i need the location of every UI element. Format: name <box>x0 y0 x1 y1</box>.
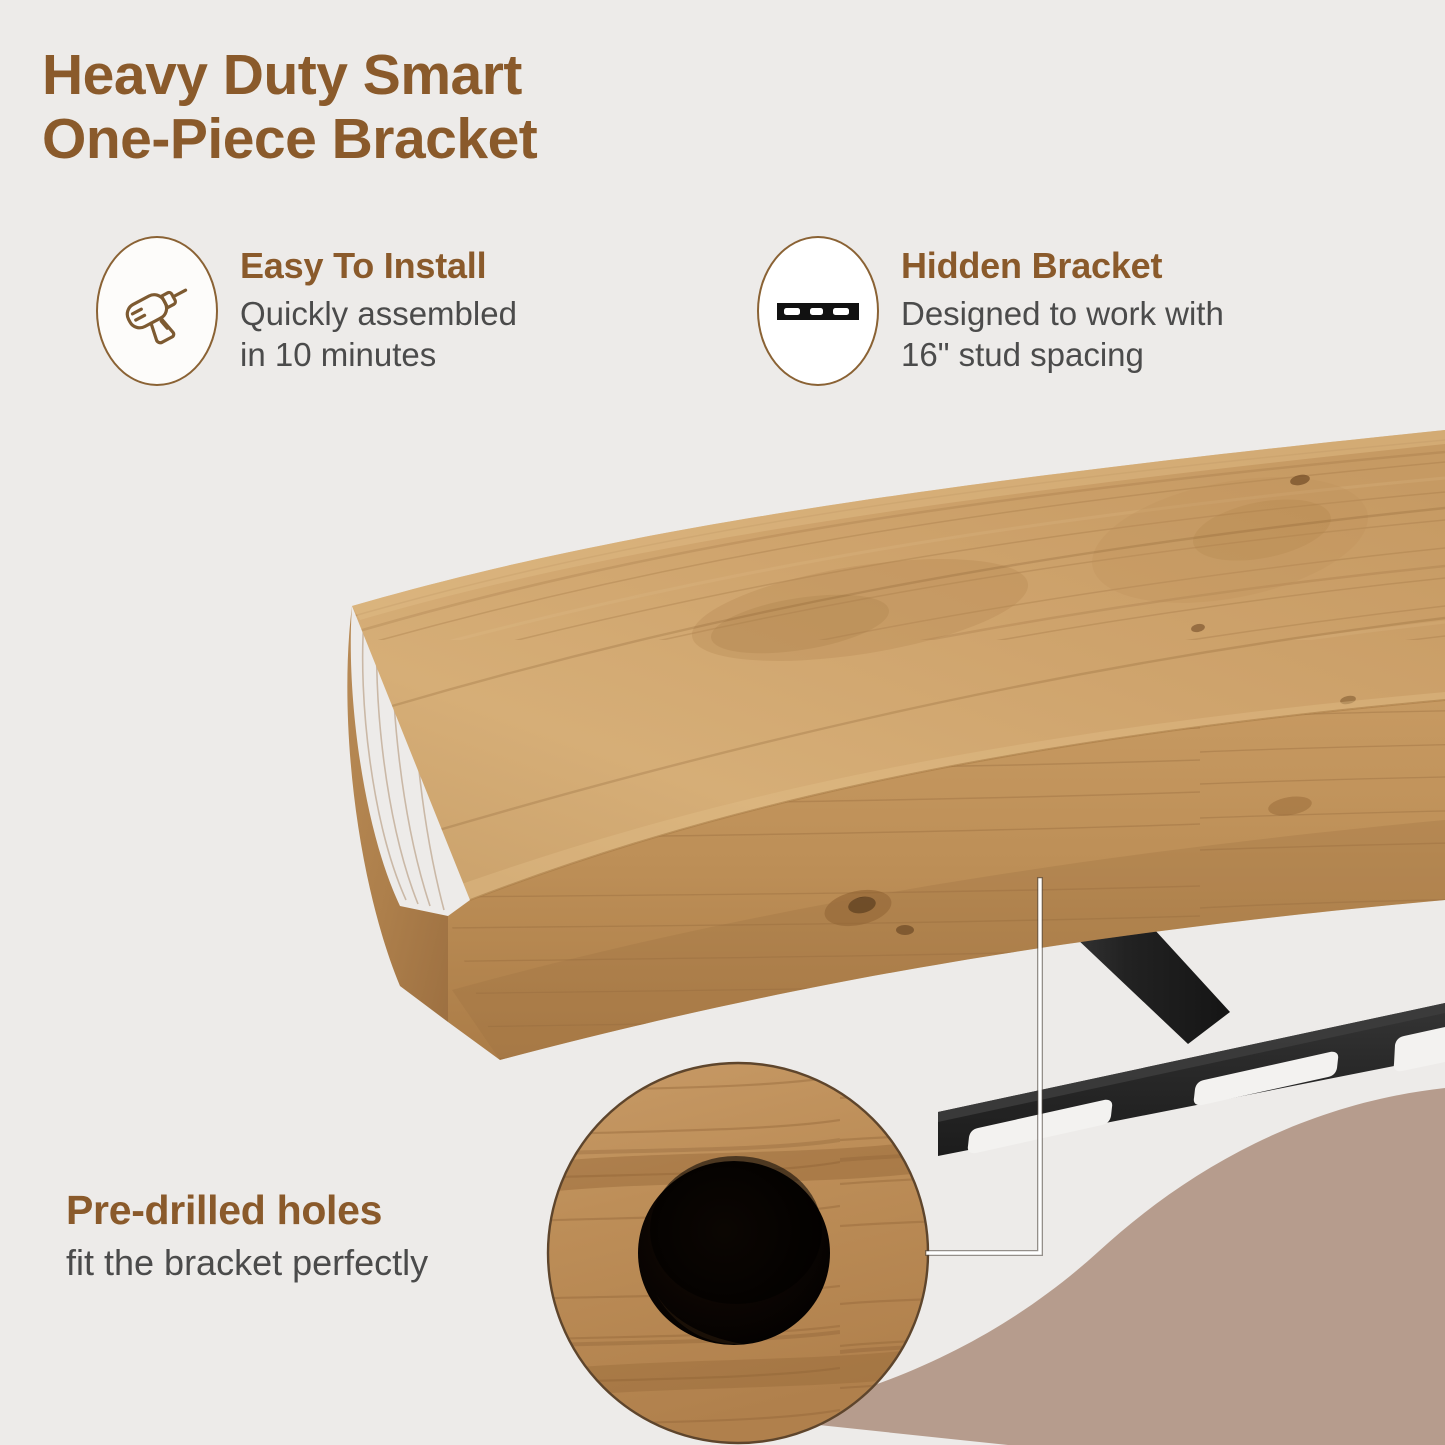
feature-1-title: Easy To Install <box>240 246 517 286</box>
feature-1-text: Easy To Install Quickly assembled in 10 … <box>240 236 517 376</box>
feature-1-desc-line-1: Quickly assembled <box>240 295 517 332</box>
feature-2-title: Hidden Bracket <box>901 246 1224 286</box>
feature-easy-to-install: Easy To Install Quickly assembled in 10 … <box>96 236 517 386</box>
feature-hidden-bracket: Hidden Bracket Designed to work with 16"… <box>757 236 1224 386</box>
bracket-bar-icon <box>772 265 864 357</box>
feature-row: Easy To Install Quickly assembled in 10 … <box>0 236 1445 411</box>
magnifier-callout <box>548 1063 928 1443</box>
callout-subtitle: fit the bracket perfectly <box>66 1242 586 1283</box>
callout-title: Pre-drilled holes <box>66 1188 586 1233</box>
drill-icon <box>116 270 198 352</box>
page-title: Heavy Duty Smart One-Piece Bracket <box>42 44 862 172</box>
feature-1-desc-line-2: in 10 minutes <box>240 336 436 373</box>
feature-2-text: Hidden Bracket Designed to work with 16"… <box>901 236 1224 376</box>
headline-line-2: One-Piece Bracket <box>42 108 862 172</box>
headline-line-1: Heavy Duty Smart <box>42 43 522 107</box>
wood-shelf <box>300 400 1445 1080</box>
feature-2-desc-line-1: Designed to work with <box>901 295 1224 332</box>
predrilled-callout-text: Pre-drilled holes fit the bracket perfec… <box>66 1188 586 1283</box>
bracket-bar-icon-badge <box>757 236 879 386</box>
drill-icon-badge <box>96 236 218 386</box>
poster-canvas: Heavy Duty Smart One-Piece Bracket <box>0 0 1445 1445</box>
feature-2-desc-line-2: 16" stud spacing <box>901 336 1144 373</box>
feature-2-desc: Designed to work with 16" stud spacing <box>901 293 1224 376</box>
feature-1-desc: Quickly assembled in 10 minutes <box>240 293 517 376</box>
